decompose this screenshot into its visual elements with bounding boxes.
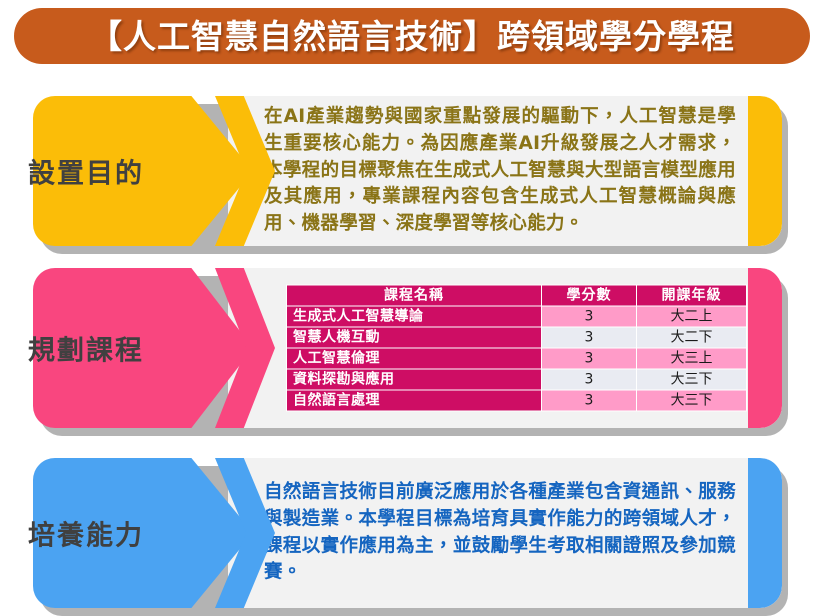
page-title-banner: 【人工智慧自然語言技術】跨領域學分學程 bbox=[14, 8, 810, 64]
cell-credits: 3 bbox=[542, 369, 637, 390]
cell-credits: 3 bbox=[542, 348, 637, 369]
column-header-year: 開課年級 bbox=[637, 285, 747, 306]
cell-credits: 3 bbox=[542, 327, 637, 348]
skills-body-text: 自然語言技術目前廣泛應用於各種產業包含資通訊、服務與製造業。本學程目標為培育具實… bbox=[264, 479, 736, 586]
cell-year: 大三下 bbox=[637, 390, 747, 411]
section-content-panel: 自然語言技術目前廣泛應用於各種產業包含資通訊、服務與製造業。本學程目標為培育具實… bbox=[228, 458, 782, 608]
cell-year: 大二上 bbox=[637, 306, 747, 327]
cell-credits: 3 bbox=[542, 306, 637, 327]
section-content-panel: 課程名稱 學分數 開課年級 生成式人工智慧導論 3 大二上 智慧人機互動 3 大… bbox=[228, 268, 782, 428]
section-objective: 在AI產業趨勢與國家重點發展的驅動下，人工智慧是學生重要核心能力。為因應產業AI… bbox=[0, 96, 821, 246]
table-row: 資料探勘與應用 3 大三下 bbox=[287, 369, 747, 390]
column-header-course-name: 課程名稱 bbox=[287, 285, 542, 306]
cell-year: 大三上 bbox=[637, 348, 747, 369]
section-content-panel: 在AI產業趨勢與國家重點發展的驅動下，人工智慧是學生重要核心能力。為因應產業AI… bbox=[228, 96, 782, 246]
cell-course-name: 自然語言處理 bbox=[287, 390, 542, 411]
section-skills: 自然語言技術目前廣泛應用於各種產業包含資通訊、服務與製造業。本學程目標為培育具實… bbox=[0, 458, 821, 608]
cell-course-name: 生成式人工智慧導論 bbox=[287, 306, 542, 327]
cell-course-name: 資料探勘與應用 bbox=[287, 369, 542, 390]
panel-accent-bar bbox=[748, 268, 782, 428]
cell-year: 大二下 bbox=[637, 327, 747, 348]
table-row: 智慧人機互動 3 大二下 bbox=[287, 327, 747, 348]
table-row: 生成式人工智慧導論 3 大二上 bbox=[287, 306, 747, 327]
table-row: 人工智慧倫理 3 大三上 bbox=[287, 348, 747, 369]
panel-accent-bar bbox=[748, 96, 782, 246]
cell-year: 大三下 bbox=[637, 369, 747, 390]
cell-credits: 3 bbox=[542, 390, 637, 411]
panel-accent-bar bbox=[748, 458, 782, 608]
section-label-text: 規劃課程 bbox=[28, 329, 144, 368]
section-courses: 課程名稱 學分數 開課年級 生成式人工智慧導論 3 大二上 智慧人機互動 3 大… bbox=[0, 268, 821, 428]
section-label-text: 培養能力 bbox=[28, 514, 144, 553]
table-header-row: 課程名稱 學分數 開課年級 bbox=[287, 285, 747, 306]
column-header-credits: 學分數 bbox=[542, 285, 637, 306]
table-row: 自然語言處理 3 大三下 bbox=[287, 390, 747, 411]
section-label-text: 設置目的 bbox=[28, 152, 144, 191]
cell-course-name: 人工智慧倫理 bbox=[287, 348, 542, 369]
page-title: 【人工智慧自然語言技術】跨領域學分學程 bbox=[89, 20, 735, 53]
course-table: 課程名稱 學分數 開課年級 生成式人工智慧導論 3 大二上 智慧人機互動 3 大… bbox=[286, 285, 747, 412]
objective-body-text: 在AI產業趨勢與國家重點發展的驅動下，人工智慧是學生重要核心能力。為因應產業AI… bbox=[264, 104, 736, 238]
cell-course-name: 智慧人機互動 bbox=[287, 327, 542, 348]
